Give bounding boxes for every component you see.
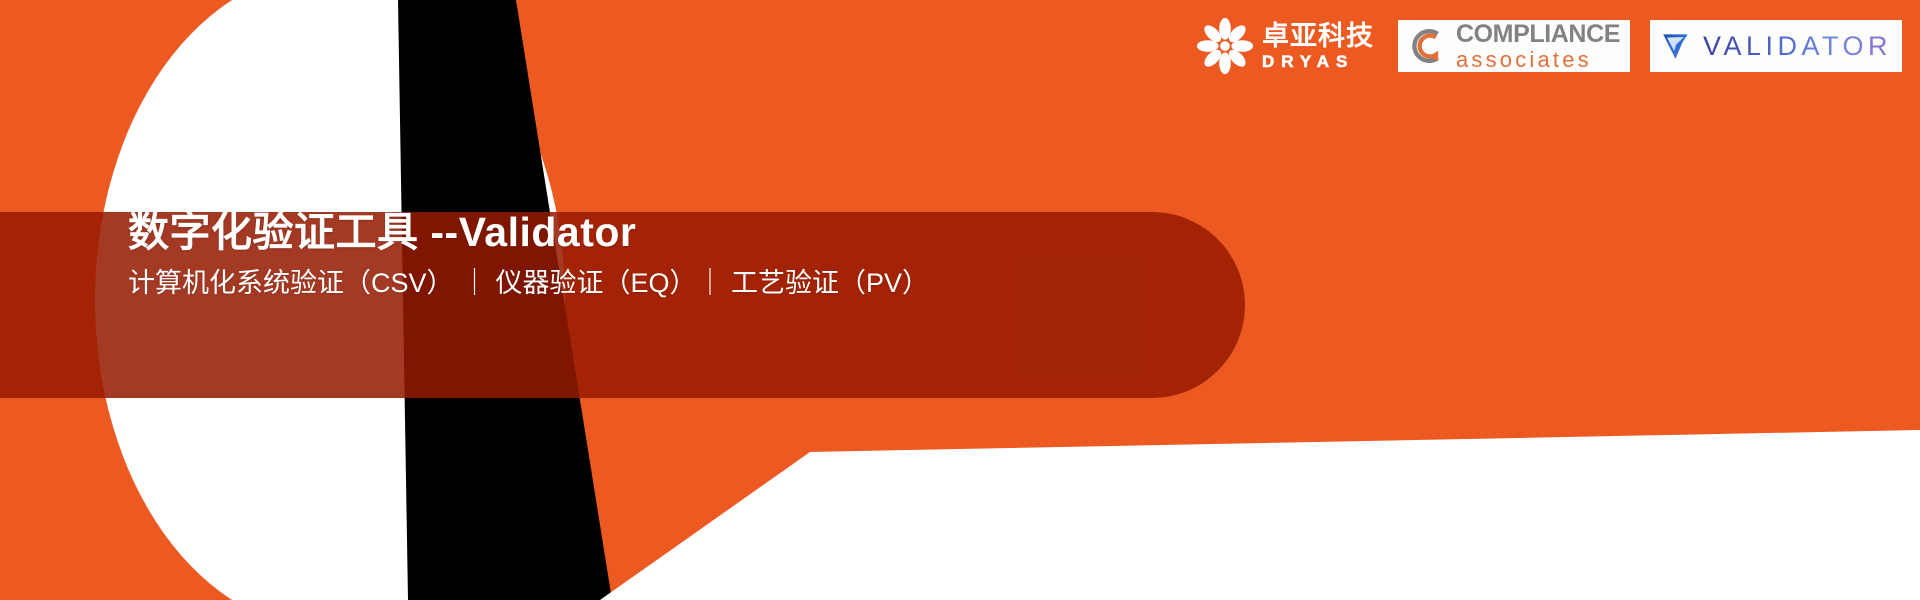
dryas-wordmark: 卓亚科技 DRYAS <box>1262 23 1374 70</box>
validator-wordmark: VALIDATOR <box>1703 31 1892 62</box>
dryas-english-name: DRYAS <box>1262 53 1374 70</box>
dryas-chinese-name: 卓亚科技 <box>1262 23 1374 50</box>
logo-strip: 卓亚科技 DRYAS COMPLIANCE associates <box>1192 14 1902 78</box>
title-block: 数字化验证工具 --Validator 计算机化系统验证（CSV） ｜ 仪器验证… <box>128 206 1188 302</box>
compliance-primary-text: COMPLIANCE <box>1456 22 1620 47</box>
validator-v-shield-icon <box>1660 23 1691 69</box>
logo-dryas: 卓亚科技 DRYAS <box>1192 15 1378 77</box>
page-subtitle: 计算机化系统验证（CSV） ｜ 仪器验证（EQ）｜ 工艺验证（PV） <box>128 266 1188 301</box>
logo-compliance-associates: COMPLIANCE associates <box>1398 20 1630 72</box>
compliance-secondary-text: associates <box>1456 49 1620 71</box>
page-title: 数字化验证工具 --Validator <box>128 206 1188 258</box>
marketing-banner: 数字化验证工具 --Validator 计算机化系统验证（CSV） ｜ 仪器验证… <box>0 0 1920 600</box>
flower-icon <box>1196 17 1254 75</box>
logo-validator: VALIDATOR <box>1650 20 1902 72</box>
ca-monogram-icon <box>1408 24 1450 68</box>
compliance-wordmark: COMPLIANCE associates <box>1456 22 1620 71</box>
